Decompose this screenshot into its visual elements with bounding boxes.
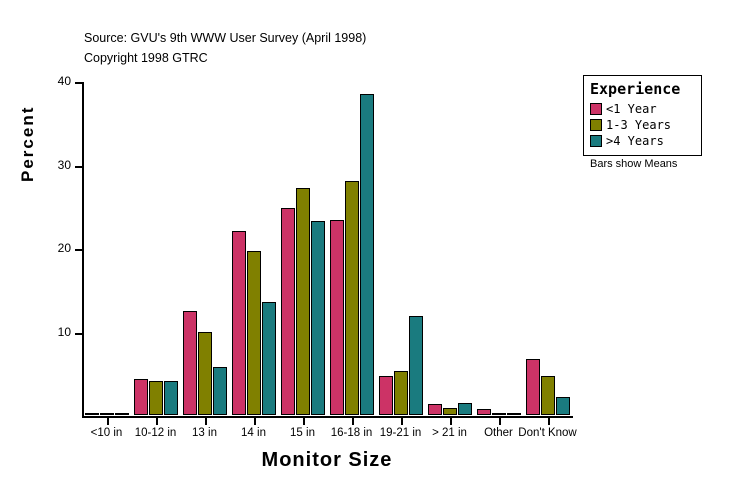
x-axis-tick-label: 15 in	[290, 427, 315, 439]
y-axis-tick: 20	[75, 249, 82, 251]
bar	[458, 403, 472, 415]
y-axis-tick-label: 40	[58, 74, 71, 88]
bar	[247, 251, 261, 415]
bar	[296, 188, 310, 415]
x-axis-tick-label: > 21 in	[432, 427, 467, 439]
x-axis-tick	[107, 418, 109, 425]
bar	[115, 413, 129, 415]
x-axis-tick-label: 13 in	[192, 427, 217, 439]
bar	[232, 231, 246, 415]
x-axis-tick	[401, 418, 403, 425]
bar	[345, 181, 359, 415]
bar	[492, 413, 506, 415]
legend-swatch	[590, 119, 602, 131]
bar	[183, 311, 197, 415]
bar	[134, 379, 148, 415]
bar	[360, 94, 374, 415]
legend-title: Experience	[590, 80, 695, 98]
x-axis-tick	[254, 418, 256, 425]
x-axis-tick	[205, 418, 207, 425]
bar	[330, 220, 344, 415]
bar	[100, 413, 114, 415]
copyright-text: Copyright 1998 GTRC	[84, 48, 366, 68]
bar	[213, 367, 227, 415]
bar	[526, 359, 540, 415]
source-text: Source: GVU's 9th WWW User Survey (April…	[84, 28, 366, 48]
legend-entry: 1-3 Years	[590, 117, 695, 132]
legend-entry: >4 Years	[590, 133, 695, 148]
y-axis-line	[82, 82, 84, 418]
bar	[507, 413, 521, 415]
bar	[556, 397, 570, 415]
chart-plot-area: 10203040 <10 in10-12 in13 in14 in15 in16…	[82, 82, 572, 417]
bar	[443, 408, 457, 416]
source-annotation: Source: GVU's 9th WWW User Survey (April…	[84, 28, 366, 68]
x-axis-title: Monitor Size	[82, 449, 572, 472]
legend-label: 1-3 Years	[606, 118, 671, 132]
x-axis-tick	[352, 418, 354, 425]
x-axis-tick-label: 19-21 in	[380, 427, 422, 439]
x-axis-tick-label: 14 in	[241, 427, 266, 439]
x-axis-tick-label: 10-12 in	[135, 427, 177, 439]
y-axis-tick: 40	[75, 82, 82, 84]
x-axis-tick	[499, 418, 501, 425]
y-axis-title: Percent	[18, 106, 38, 182]
bar	[477, 409, 491, 415]
legend-entry: <1 Year	[590, 101, 695, 116]
x-axis-tick-label: <10 in	[91, 427, 123, 439]
bar	[281, 208, 295, 415]
x-axis-tick-label: Other	[484, 427, 513, 439]
bar	[409, 316, 423, 415]
y-axis-tick: 30	[75, 166, 82, 168]
bar	[541, 376, 555, 415]
bar	[394, 371, 408, 415]
bar	[198, 332, 212, 415]
bars-show-means-note: Bars show Means	[590, 158, 677, 170]
x-axis-tick	[303, 418, 305, 425]
bar	[379, 376, 393, 415]
bar	[311, 221, 325, 415]
x-axis-tick-label: 16-18 in	[331, 427, 373, 439]
y-axis-tick-label: 20	[58, 241, 71, 255]
legend-entries: <1 Year1-3 Years>4 Years	[590, 101, 695, 148]
y-axis-tick: 10	[75, 333, 82, 335]
x-axis-tick	[156, 418, 158, 425]
y-axis-tick-label: 10	[58, 325, 71, 339]
chart-legend: Experience <1 Year1-3 Years>4 Years	[583, 75, 702, 156]
x-axis-tick	[450, 418, 452, 425]
x-axis-tick-label: Don't Know	[518, 427, 576, 439]
bar	[85, 413, 99, 416]
bar	[262, 302, 276, 415]
bar	[428, 404, 442, 415]
legend-label: >4 Years	[606, 134, 664, 148]
y-axis-tick-label: 30	[58, 158, 71, 172]
bar	[164, 381, 178, 415]
legend-swatch	[590, 135, 602, 147]
x-axis-tick	[548, 418, 550, 425]
legend-swatch	[590, 103, 602, 115]
legend-label: <1 Year	[606, 102, 657, 116]
bar	[149, 381, 163, 415]
